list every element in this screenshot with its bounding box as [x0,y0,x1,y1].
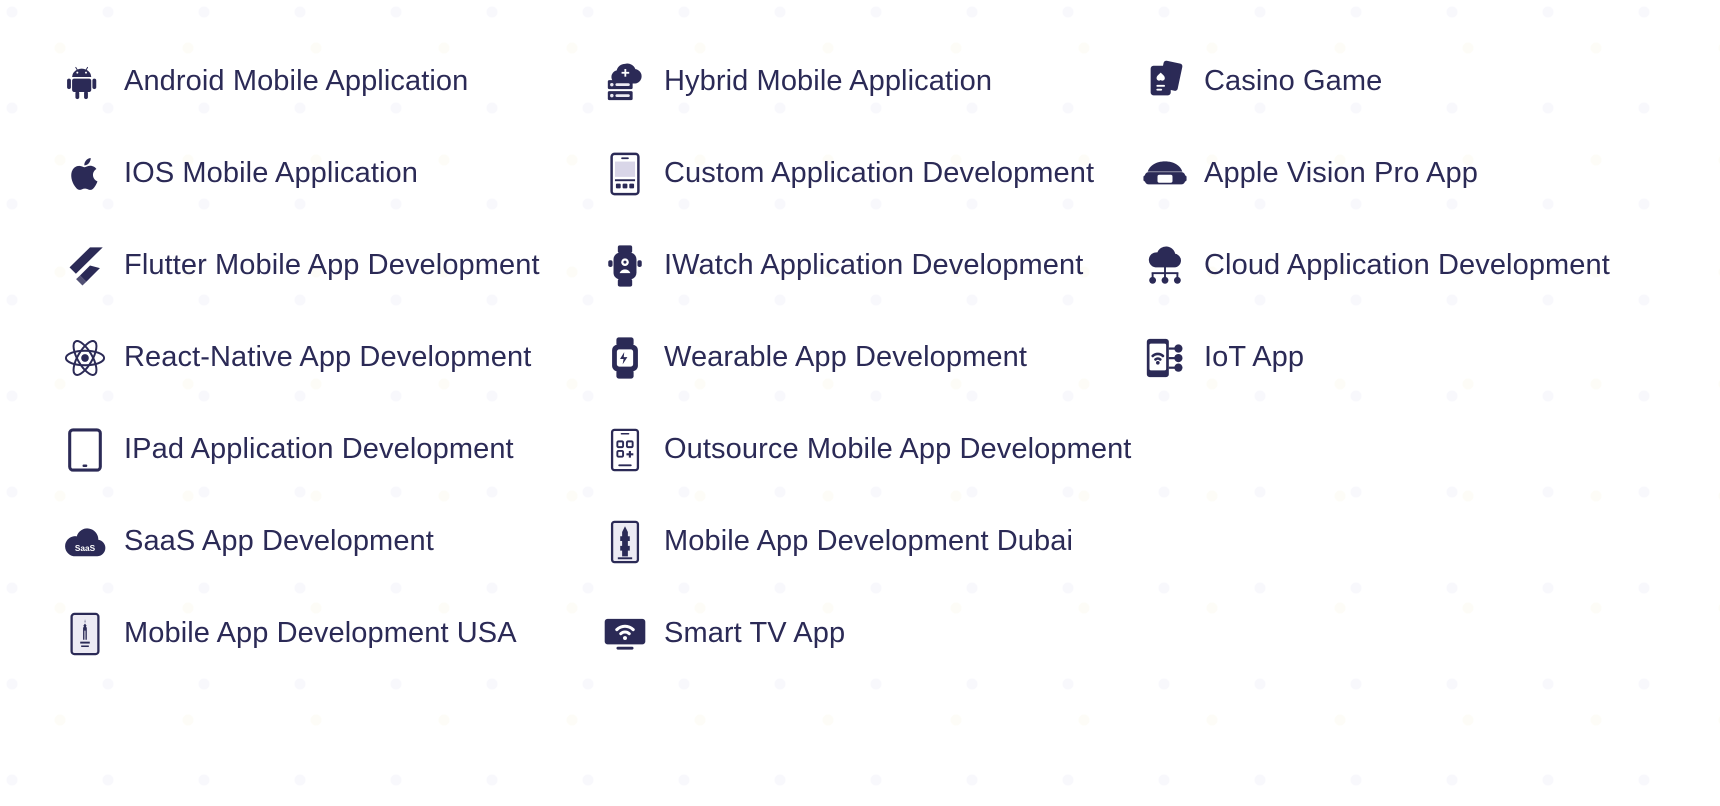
service-item-react-native[interactable]: React-Native App Development [0,312,540,404]
service-item-casino-game[interactable]: Casino Game [1080,36,1720,128]
android-icon [62,59,108,105]
services-grid: Android Mobile Application IOS Mobile Ap… [0,0,1720,700]
service-label: Flutter Mobile App Development [124,249,540,282]
service-label: IoT App [1204,341,1304,374]
service-label: Mobile App Development USA [124,617,517,650]
cloud-network-icon [1142,243,1188,289]
service-label: Wearable App Development [664,341,1027,374]
service-item-iot-app[interactable]: IoT App [1080,312,1720,404]
iot-phone-icon [1142,335,1188,381]
service-label: Android Mobile Application [124,65,468,98]
custom-phone-icon [602,151,648,197]
vr-headset-icon [1142,151,1188,197]
service-label: IPad Application Development [124,433,514,466]
service-label: Apple Vision Pro App [1204,157,1478,190]
service-item-hybrid[interactable]: Hybrid Mobile Application [540,36,1080,128]
service-item-wearable[interactable]: Wearable App Development [540,312,1080,404]
casino-cards-icon [1142,59,1188,105]
service-item-outsource[interactable]: Outsource Mobile App Development [540,404,1080,496]
svg-text:SaaS: SaaS [75,544,96,553]
service-label: SaaS App Development [124,525,434,558]
smartwatch-icon [602,243,648,289]
smart-tv-icon [602,611,648,657]
burj-khalifa-phone-icon [602,519,648,565]
hybrid-cloud-server-icon [602,59,648,105]
service-label: Smart TV App [664,617,845,650]
service-item-saas[interactable]: SaaS SaaS App Development [0,496,540,588]
apple-icon [62,151,108,197]
service-item-mobile-app-dubai[interactable]: Mobile App Development Dubai [540,496,1080,588]
flutter-icon [62,243,108,289]
saas-cloud-icon: SaaS [62,519,108,565]
service-item-flutter[interactable]: Flutter Mobile App Development [0,220,540,312]
ipad-icon [62,427,108,473]
statue-of-liberty-phone-icon [62,611,108,657]
service-label: Custom Application Development [664,157,1094,190]
service-label: IOS Mobile Application [124,157,418,190]
services-page: Android Mobile Application IOS Mobile Ap… [0,0,1720,806]
service-item-apple-vision-pro[interactable]: Apple Vision Pro App [1080,128,1720,220]
service-item-iwatch[interactable]: IWatch Application Development [540,220,1080,312]
service-label: React-Native App Development [124,341,531,374]
service-label: Outsource Mobile App Development [664,433,1131,466]
react-icon [62,335,108,381]
wearable-watch-icon [602,335,648,381]
service-item-smart-tv[interactable]: Smart TV App [540,588,1080,680]
service-label: Cloud Application Development [1204,249,1610,282]
outsource-phone-icon [602,427,648,473]
service-label: IWatch Application Development [664,249,1083,282]
service-label: Mobile App Development Dubai [664,525,1073,558]
service-item-custom-app[interactable]: Custom Application Development [540,128,1080,220]
service-label: Hybrid Mobile Application [664,65,992,98]
service-item-ipad[interactable]: IPad Application Development [0,404,540,496]
service-item-ios[interactable]: IOS Mobile Application [0,128,540,220]
service-item-android[interactable]: Android Mobile Application [0,36,540,128]
service-item-mobile-app-usa[interactable]: Mobile App Development USA [0,588,540,680]
service-item-cloud-app[interactable]: Cloud Application Development [1080,220,1720,312]
service-label: Casino Game [1204,65,1382,98]
